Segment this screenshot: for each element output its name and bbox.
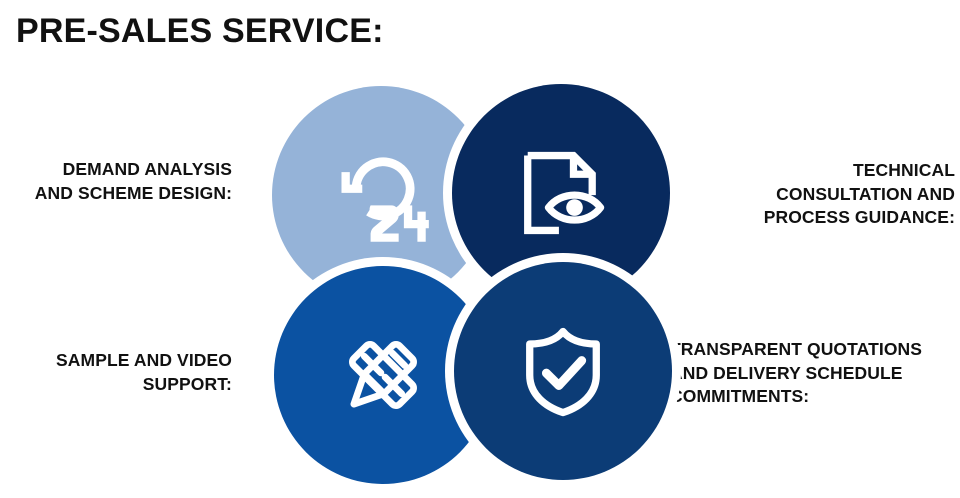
label-line: SUPPORT: [0, 373, 232, 397]
label-line: CONSULTATION AND [727, 183, 955, 207]
label-line: PROCESS GUIDANCE: [727, 206, 955, 230]
label-line: TECHNICAL [727, 159, 955, 183]
label-line: DEMAND ANALYSIS [0, 158, 232, 182]
pre-sales-service-infographic: PRE-SALES SERVICE: [0, 0, 960, 498]
label-line: COMMITMENTS: [670, 385, 960, 409]
circle-cluster [268, 80, 668, 468]
label-line: AND DELIVERY SCHEDULE [670, 362, 960, 386]
label-line: TRANSPARENT QUOTATIONS [670, 338, 960, 362]
label-demand-analysis: DEMAND ANALYSIS AND SCHEME DESIGN: [0, 158, 232, 205]
shield-check-icon [511, 319, 615, 423]
label-line: SAMPLE AND VIDEO [0, 349, 232, 373]
page-title: PRE-SALES SERVICE: [16, 12, 384, 51]
label-line: AND SCHEME DESIGN: [0, 182, 232, 206]
document-eye-review-icon [509, 141, 613, 245]
label-technical-consultation: TECHNICAL CONSULTATION AND PROCESS GUIDA… [727, 159, 955, 230]
circle-transparent-quotations[interactable] [454, 262, 672, 480]
pencil-ruler-design-icon [331, 323, 435, 427]
label-sample-video-support: SAMPLE AND VIDEO SUPPORT: [0, 349, 232, 396]
label-transparent-quotations: TRANSPARENT QUOTATIONS AND DELIVERY SCHE… [670, 338, 960, 409]
24-hours-rotate-icon [329, 143, 433, 247]
